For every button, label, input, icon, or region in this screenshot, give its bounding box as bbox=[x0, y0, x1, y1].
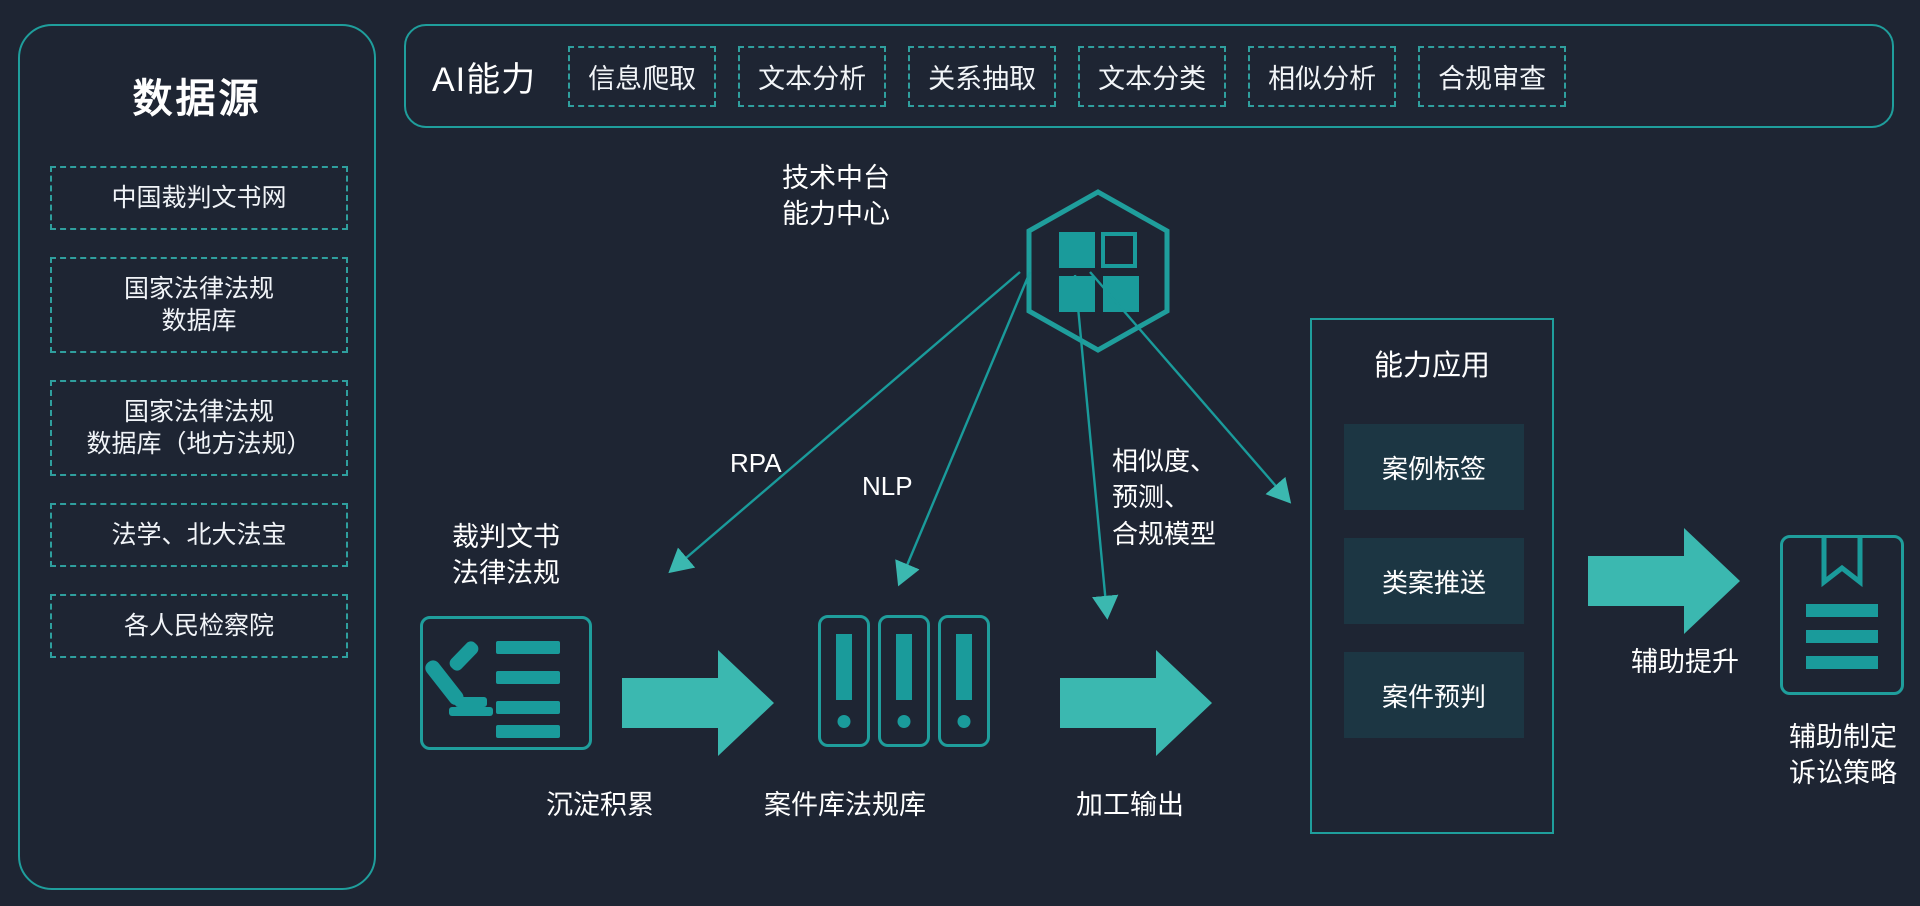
ai-tag-1[interactable]: 文本分析 bbox=[738, 46, 886, 107]
edge-label-nlp: NLP bbox=[862, 468, 913, 504]
data-source-title: 数据源 bbox=[20, 66, 374, 124]
doc-stage-title: 裁判文书 法律法规 bbox=[410, 520, 602, 591]
server-bar bbox=[896, 634, 912, 700]
ai-tag-5[interactable]: 合规审查 bbox=[1418, 46, 1566, 107]
data-source-item-1[interactable]: 国家法律法规 数据库 bbox=[50, 257, 348, 353]
ability-application-list: 案例标签 类案推送 案件预判 bbox=[1344, 424, 1524, 766]
flow-arrow-1 bbox=[622, 650, 774, 756]
ability-item-1[interactable]: 类案推送 bbox=[1344, 538, 1524, 624]
result-caption: 辅助制定 诉讼策略 bbox=[1738, 720, 1920, 791]
ai-tag-0[interactable]: 信息爬取 bbox=[568, 46, 716, 107]
flow-arrow-3 bbox=[1588, 528, 1740, 634]
bookmark-document-icon bbox=[1780, 535, 1904, 695]
db-stage-caption: 案件库法规库 bbox=[700, 788, 990, 824]
data-source-item-4[interactable]: 各人民检察院 bbox=[50, 594, 348, 658]
data-source-list: 中国裁判文书网 国家法律法规 数据库 国家法律法规 数据库（地方法规） 法学、北… bbox=[50, 166, 348, 685]
ai-tag-3[interactable]: 文本分类 bbox=[1078, 46, 1226, 107]
gavel-document-icon bbox=[420, 616, 592, 750]
edge-label-similarity: 相似度、 预测、 合规模型 bbox=[1112, 443, 1216, 552]
ai-tag-2[interactable]: 关系抽取 bbox=[908, 46, 1056, 107]
server-dot bbox=[898, 715, 911, 728]
ability-item-2[interactable]: 案件预判 bbox=[1344, 652, 1524, 738]
data-source-item-2[interactable]: 国家法律法规 数据库（地方法规） bbox=[50, 380, 348, 476]
server-unit-2 bbox=[878, 615, 930, 747]
server-rack-icon bbox=[818, 615, 990, 747]
server-unit-1 bbox=[818, 615, 870, 747]
assist-arrow-caption: 辅助提升 bbox=[1585, 645, 1785, 681]
server-bar bbox=[956, 634, 972, 700]
edge-label-rpa: RPA bbox=[730, 445, 782, 481]
ai-capability-bar: AI能力 信息爬取 文本分析 关系抽取 文本分类 相似分析 合规审查 bbox=[404, 24, 1894, 128]
doc-stage-caption: 沉淀积累 bbox=[500, 788, 700, 824]
ability-application-panel: 能力应用 案例标签 类案推送 案件预判 bbox=[1310, 318, 1554, 834]
diagram-canvas: 数据源 中国裁判文书网 国家法律法规 数据库 国家法律法规 数据库（地方法规） … bbox=[0, 0, 1920, 906]
tech-hub-label: 技术中台 能力中心 bbox=[690, 160, 890, 233]
server-unit-3 bbox=[938, 615, 990, 747]
server-dot bbox=[838, 715, 851, 728]
data-source-item-3[interactable]: 法学、北大法宝 bbox=[50, 503, 348, 567]
data-source-panel: 数据源 中国裁判文书网 国家法律法规 数据库 国家法律法规 数据库（地方法规） … bbox=[18, 24, 376, 890]
ability-application-title: 能力应用 bbox=[1312, 342, 1552, 384]
hexagon-grid-icon bbox=[1023, 188, 1173, 354]
ai-tag-4[interactable]: 相似分析 bbox=[1248, 46, 1396, 107]
server-dot bbox=[958, 715, 971, 728]
data-source-item-0[interactable]: 中国裁判文书网 bbox=[50, 166, 348, 230]
ai-capability-label: AI能力 bbox=[432, 52, 536, 101]
flow-arrow-2 bbox=[1060, 650, 1212, 756]
output-stage-caption: 加工输出 bbox=[1010, 788, 1250, 824]
ability-item-0[interactable]: 案例标签 bbox=[1344, 424, 1524, 510]
server-bar bbox=[836, 634, 852, 700]
